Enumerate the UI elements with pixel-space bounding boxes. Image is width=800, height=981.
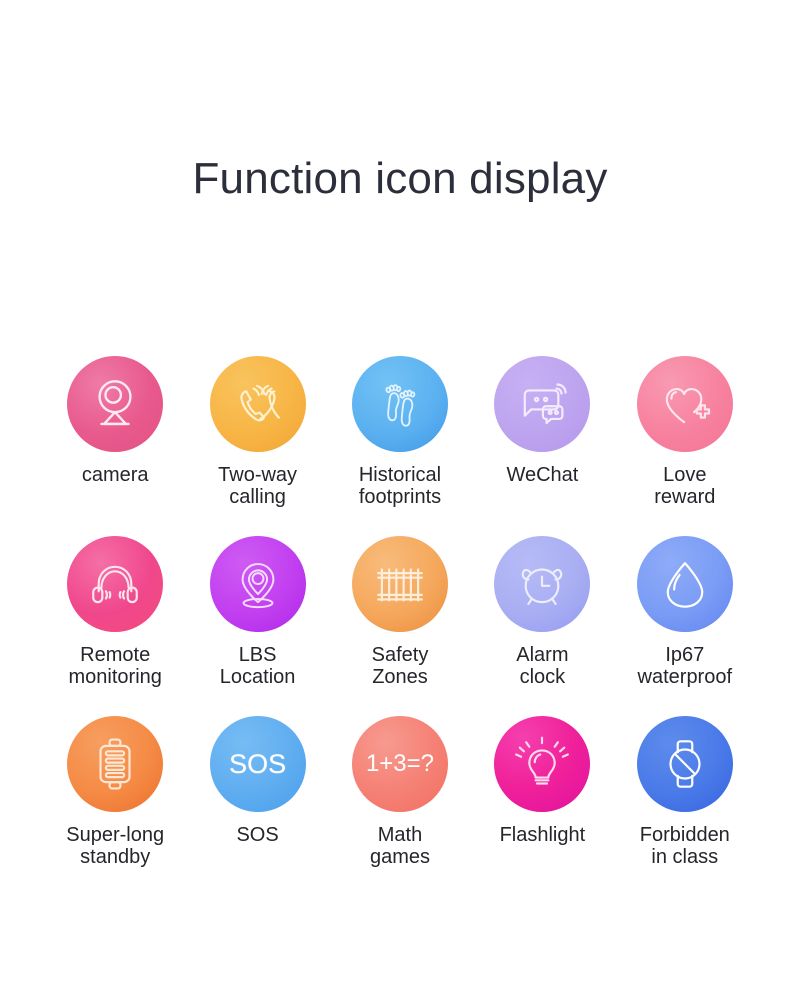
grid-item-flashlight[interactable]: Flashlight xyxy=(471,700,613,880)
historical-footprints-circle[interactable] xyxy=(352,356,448,452)
icon-label: Ip67 waterproof xyxy=(638,644,733,689)
remote-monitoring-circle[interactable] xyxy=(67,536,163,632)
math-games-circle[interactable]: 1+3=? xyxy=(352,716,448,812)
grid-item-sos[interactable]: SOS SOS xyxy=(186,700,328,880)
grid-item-super-long-standby[interactable]: Super-long standby xyxy=(44,700,186,880)
camera-icon xyxy=(86,375,144,433)
grid-item-safety-zones[interactable]: Safety Zones xyxy=(329,520,471,700)
no-watch-icon xyxy=(656,735,714,793)
math-equation-icon: 1+3=? xyxy=(366,752,434,776)
grid-item-forbidden-in-class[interactable]: Forbidden in class xyxy=(614,700,756,880)
icon-label: Math games xyxy=(370,824,430,869)
icon-label: Forbidden in class xyxy=(640,824,730,869)
icon-label: Super-long standby xyxy=(66,824,164,869)
grid-item-historical-footprints[interactable]: Historical footprints xyxy=(329,340,471,520)
icon-label: Love reward xyxy=(654,464,715,509)
chat-bubbles-icon xyxy=(513,375,571,433)
super-long-standby-circle[interactable] xyxy=(67,716,163,812)
icon-label: Historical footprints xyxy=(359,464,441,509)
water-drop-icon xyxy=(656,555,714,613)
two-way-calling-circle[interactable] xyxy=(210,356,306,452)
function-icon-display-page: Function icon display camera xyxy=(0,0,800,981)
grid-item-alarm-clock[interactable]: Alarm clock xyxy=(471,520,613,700)
wechat-circle[interactable] xyxy=(494,356,590,452)
icon-label: WeChat xyxy=(506,464,578,486)
icon-label: Alarm clock xyxy=(516,644,568,689)
sos-circle[interactable]: SOS xyxy=(210,716,306,812)
grid-item-two-way-calling[interactable]: Two-way calling xyxy=(186,340,328,520)
page-title: Function icon display xyxy=(0,155,800,203)
grid-item-remote-monitoring[interactable]: Remote monitoring xyxy=(44,520,186,700)
safety-zones-circle[interactable] xyxy=(352,536,448,632)
icon-label: Safety Zones xyxy=(372,644,429,689)
sos-text-icon: SOS xyxy=(229,751,286,778)
grid-item-lbs-location[interactable]: LBS Location xyxy=(186,520,328,700)
grid-item-ip67-waterproof[interactable]: Ip67 waterproof xyxy=(614,520,756,700)
icon-label: LBS Location xyxy=(220,644,296,689)
alarm-clock-circle[interactable] xyxy=(494,536,590,632)
love-reward-circle[interactable] xyxy=(637,356,733,452)
icon-label: Two-way calling xyxy=(218,464,297,509)
two-phones-icon xyxy=(229,375,287,433)
ip67-waterproof-circle[interactable] xyxy=(637,536,733,632)
grid-item-math-games[interactable]: 1+3=? Math games xyxy=(329,700,471,880)
fence-icon xyxy=(371,555,429,613)
lbs-location-circle[interactable] xyxy=(210,536,306,632)
grid-item-camera[interactable]: camera xyxy=(44,340,186,520)
icon-label: SOS xyxy=(236,824,278,846)
icon-grid: camera Two-way calling xyxy=(44,340,756,880)
alarm-clock-icon xyxy=(513,555,571,613)
battery-icon xyxy=(86,735,144,793)
heart-plus-icon xyxy=(656,375,714,433)
flashlight-circle[interactable] xyxy=(494,716,590,812)
headphones-icon xyxy=(86,555,144,613)
grid-item-wechat[interactable]: WeChat xyxy=(471,340,613,520)
lightbulb-icon xyxy=(513,735,571,793)
icon-label: Flashlight xyxy=(500,824,586,846)
forbidden-in-class-circle[interactable] xyxy=(637,716,733,812)
camera-circle[interactable] xyxy=(67,356,163,452)
grid-item-love-reward[interactable]: Love reward xyxy=(614,340,756,520)
icon-label: Remote monitoring xyxy=(69,644,162,689)
map-pin-icon xyxy=(229,555,287,613)
footprints-icon xyxy=(371,375,429,433)
icon-label: camera xyxy=(82,464,149,486)
